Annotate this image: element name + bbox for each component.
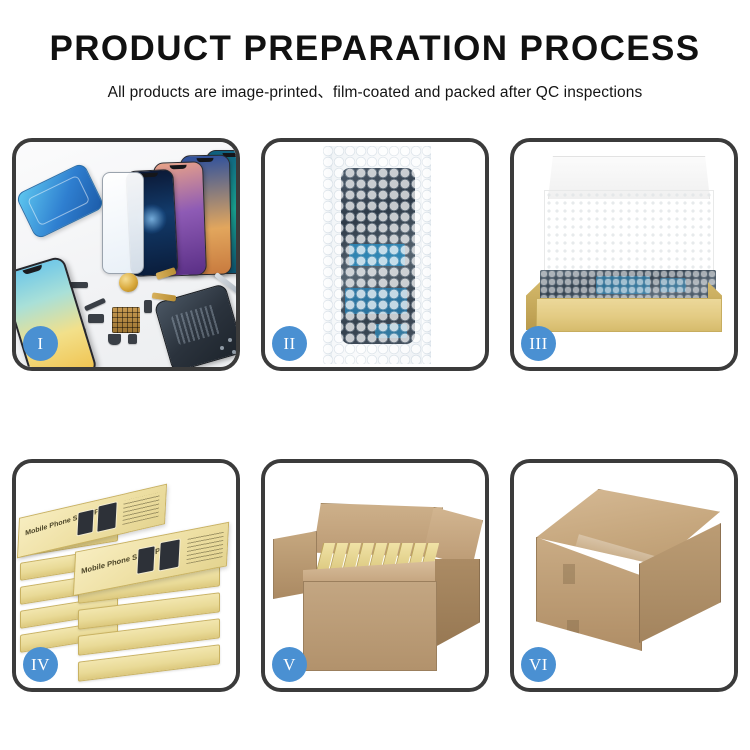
- box-phone-graphic-icon: [76, 508, 94, 536]
- step-panel-2: II: [261, 138, 489, 371]
- part-button-icon: [128, 334, 137, 344]
- screw-icon: [228, 338, 232, 342]
- header: PRODUCT PREPARATION PROCESS All products…: [0, 0, 750, 102]
- step-panel-5: V: [261, 459, 489, 692]
- page-title: PRODUCT PREPARATION PROCESS: [0, 30, 750, 69]
- bubble-texture: [323, 146, 431, 364]
- part-camera-icon: [108, 334, 121, 345]
- screw-icon: [220, 346, 224, 350]
- step-badge-5: V: [272, 647, 307, 682]
- step-badge-4: IV: [23, 647, 58, 682]
- step-panel-6: VI: [510, 459, 738, 692]
- carton-front-panel: [303, 581, 437, 671]
- box-phone-graphic-icon: [136, 545, 155, 575]
- box-phone-graphic-icon: [158, 538, 181, 571]
- page-subtitle: All products are image-printed、film-coat…: [0, 80, 750, 102]
- infographic-page: PRODUCT PREPARATION PROCESS All products…: [0, 0, 750, 750]
- part-connector-b-icon: [88, 314, 104, 323]
- screw-icon: [232, 350, 236, 354]
- box-spec-lines: [122, 492, 159, 525]
- box-spec-lines: [186, 531, 223, 564]
- step-badge-2: II: [272, 326, 307, 361]
- part-battery-icon: [144, 300, 152, 313]
- step-panel-1: I: [12, 138, 240, 371]
- box-phone-graphic-icon: [96, 501, 117, 533]
- process-step-grid: I II: [12, 138, 738, 692]
- step-panel-4: Mobile Phone Spare Parts Mobile Phone Sp…: [12, 459, 240, 692]
- bubble-wrap-sleeve-icon: [323, 146, 431, 364]
- step-badge-3: III: [521, 326, 556, 361]
- step-badge-1: I: [23, 326, 58, 361]
- copper-coil-icon: [119, 273, 138, 292]
- grid-chip-icon: [112, 307, 140, 333]
- mailer-front-panel: [536, 298, 722, 332]
- step-badge-6: VI: [521, 647, 556, 682]
- foam-liner-icon: [544, 190, 714, 280]
- screen-protector-icon: [102, 172, 144, 274]
- step-panel-3: III: [510, 138, 738, 371]
